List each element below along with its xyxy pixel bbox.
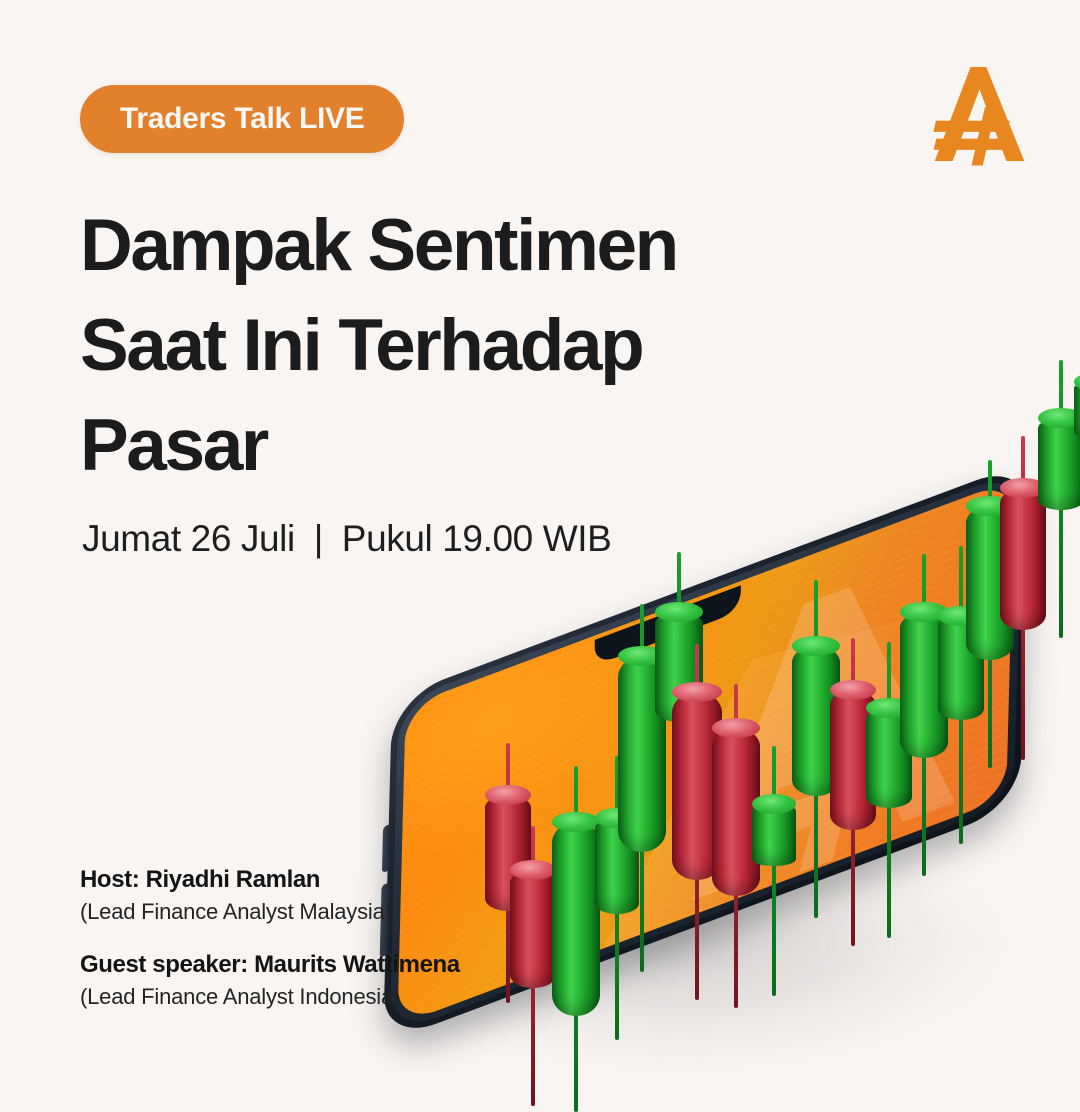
poster-canvas: Traders Talk LIVE Dampak Sentimen Saat I… xyxy=(0,0,1080,1080)
event-time: Pukul 19.00 WIB xyxy=(342,518,612,559)
candle-wick xyxy=(1059,360,1063,638)
candle-top-cap xyxy=(1038,408,1080,428)
host-name: Host: Riyadhi Ramlan xyxy=(80,866,460,894)
headline-line-3: Pasar xyxy=(80,396,840,496)
candle-body xyxy=(1038,418,1080,510)
speaker-guest: Guest speaker: Maurits Wattimena (Lead F… xyxy=(80,951,460,1010)
candle-body xyxy=(1074,382,1080,438)
headline-line-2: Saat Ini Terhadap xyxy=(80,296,840,396)
event-date: Jumat 26 Juli xyxy=(82,518,295,559)
candle-17-up xyxy=(1038,418,1080,510)
live-badge: Traders Talk LIVE xyxy=(80,85,404,153)
candle-top-cap xyxy=(1074,372,1080,392)
live-badge-label: Traders Talk LIVE xyxy=(120,102,364,136)
datetime-separator: | xyxy=(305,518,332,560)
host-role: (Lead Finance Analyst Malaysia) xyxy=(80,899,460,925)
candle-18-up xyxy=(1074,382,1080,438)
axi-a-logo-icon xyxy=(928,58,1040,170)
event-datetime: Jumat 26 Juli | Pukul 19.00 WIB xyxy=(82,518,611,560)
headline-line-1: Dampak Sentimen xyxy=(80,196,840,296)
speaker-host: Host: Riyadhi Ramlan (Lead Finance Analy… xyxy=(80,866,460,925)
phone-chart-illustration xyxy=(300,560,1080,1100)
guest-role: (Lead Finance Analyst Indonesia) xyxy=(80,984,460,1010)
page-title: Dampak Sentimen Saat Ini Terhadap Pasar xyxy=(80,196,840,496)
speaker-list: Host: Riyadhi Ramlan (Lead Finance Analy… xyxy=(80,866,460,1010)
guest-name: Guest speaker: Maurits Wattimena xyxy=(80,951,460,979)
